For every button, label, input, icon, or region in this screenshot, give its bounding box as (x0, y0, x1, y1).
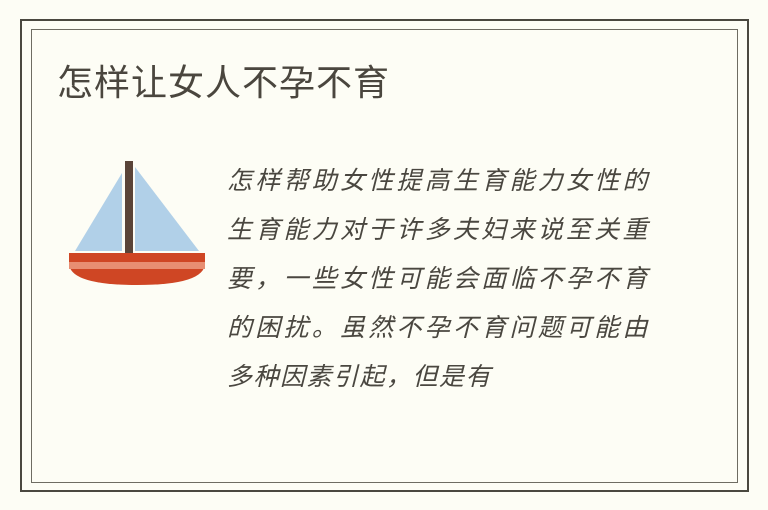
page-root: 怎样让女人不孕不育 怎样帮助女性提高生育能力女性的生育能力对于许多夫妇来说至关重… (0, 0, 768, 510)
page-title: 怎样让女人不孕不育 (57, 61, 390, 105)
sailboat-icon (67, 155, 212, 285)
article-content: 怎样帮助女性提高生育能力女性的生育能力对于许多夫妇来说至关重要，一些女性可能会面… (57, 150, 657, 410)
article-body: 怎样帮助女性提高生育能力女性的生育能力对于许多夫妇来说至关重要，一些女性可能会面… (227, 156, 649, 401)
sail-left-shape (75, 173, 122, 251)
hull-stripe-shape (69, 262, 205, 269)
sailboat-illustration (67, 155, 212, 285)
sail-right-shape (135, 167, 199, 251)
mast-shape (125, 161, 133, 253)
